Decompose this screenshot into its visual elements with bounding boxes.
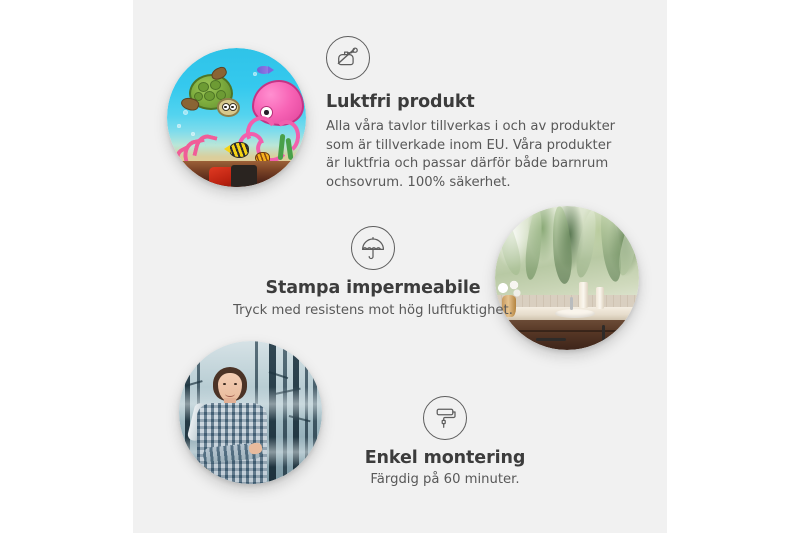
- feature-easy-mounting: Enkel montering Färgdig på 60 minuter.: [325, 396, 565, 490]
- photo-ocean-kids-artwork: [167, 48, 306, 187]
- paint-roller-icon: [423, 396, 467, 440]
- vanity-handle: [536, 338, 566, 341]
- ocean-frame-accent-dark: [231, 165, 257, 187]
- bathroom-faucet: [570, 297, 573, 310]
- turtle-head: [217, 98, 240, 117]
- photo-ocean-inner: [167, 48, 306, 187]
- vanity-seam: [507, 330, 639, 332]
- feature-body: Färgdig på 60 minuter.: [325, 471, 565, 490]
- feature-waterproof-print: Stampa impermeabile Tryck med resistens …: [213, 226, 533, 321]
- vanity-handle: [602, 325, 605, 350]
- fish-icon: [229, 142, 249, 158]
- bathroom-bottle: [579, 282, 588, 308]
- woman-smile: [225, 391, 235, 397]
- leaf-icon: [550, 206, 573, 285]
- feature-body: Alla våra tavlor tillverkas i och av pro…: [326, 118, 626, 193]
- photo-painter-forest: [179, 341, 322, 484]
- feature-title: Enkel montering: [325, 448, 565, 468]
- bathroom-bottle: [596, 287, 604, 309]
- turtle-shell-spot: [204, 91, 215, 101]
- feature-title: Stampa impermeabile: [213, 278, 533, 298]
- bubble-icon: [191, 132, 195, 136]
- feature-title: Luktfri produkt: [326, 92, 626, 112]
- no-perfume-icon: [326, 36, 370, 80]
- umbrella-icon: [351, 226, 395, 270]
- bubble-icon: [183, 110, 188, 115]
- bathroom-sink: [555, 309, 595, 318]
- leaf-icon: [573, 209, 600, 279]
- bubble-icon: [177, 124, 181, 128]
- feature-body: Tryck med resistens mot hög luftfuktighe…: [213, 302, 533, 321]
- turtle-shell-spot: [210, 80, 221, 90]
- bathroom-vanity: [507, 320, 639, 350]
- photo-forest-inner: [179, 341, 322, 484]
- content-panel: Luktfri produkt Alla våra tavlor tillver…: [133, 0, 667, 533]
- feature-odour-free: Luktfri produkt Alla våra tavlor tillver…: [326, 36, 626, 193]
- turtle-eye: [229, 103, 237, 111]
- fish-tail: [224, 145, 230, 153]
- bubble-icon: [253, 72, 257, 76]
- screenshot-root: Luktfri produkt Alla våra tavlor tillver…: [0, 0, 800, 533]
- fish-tail: [268, 66, 274, 74]
